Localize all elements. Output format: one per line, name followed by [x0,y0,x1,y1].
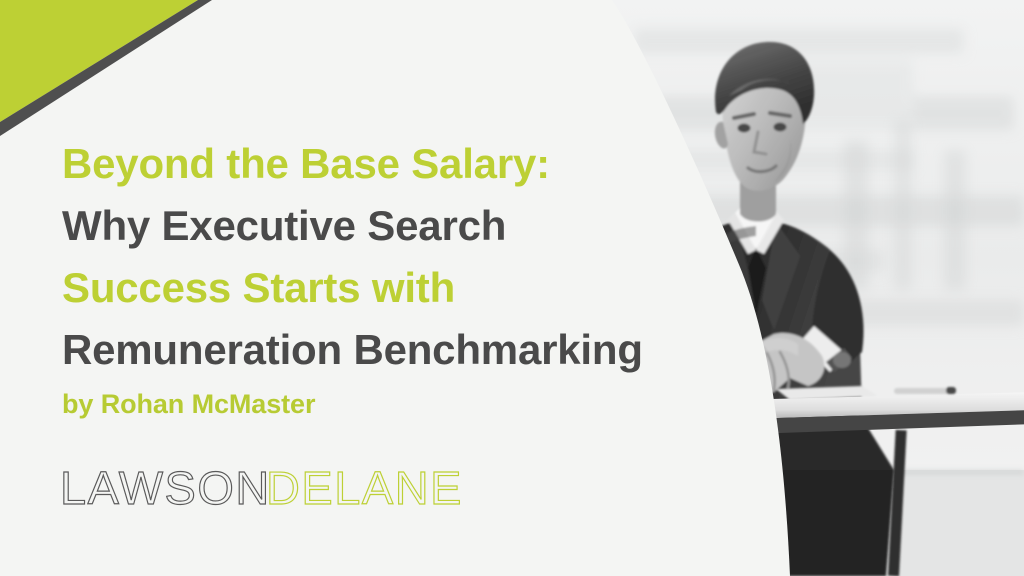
presentation-slide: Beyond the Base Salary: Why Executive Se… [0,0,1024,576]
author-byline: by Rohan McMaster [62,387,762,421]
corner-accent-wedge [0,0,230,150]
logo-text-delaney: DELANEY [266,462,460,513]
logo-text-lawson: LAWSON [60,462,271,513]
headline-line-1: Beyond the Base Salary: [62,133,762,195]
headline-line-4: Remuneration Benchmarking [62,319,762,381]
headline-line-3: Success Starts with [62,257,762,319]
title-block: Beyond the Base Salary: Why Executive Se… [62,133,762,421]
page-title: Beyond the Base Salary: Why Executive Se… [62,133,762,381]
brand-logo: LAWSON DELANEY [60,462,460,518]
headline-line-2: Why Executive Search [62,195,762,257]
lawson-delaney-logotype: LAWSON DELANEY [60,462,460,518]
